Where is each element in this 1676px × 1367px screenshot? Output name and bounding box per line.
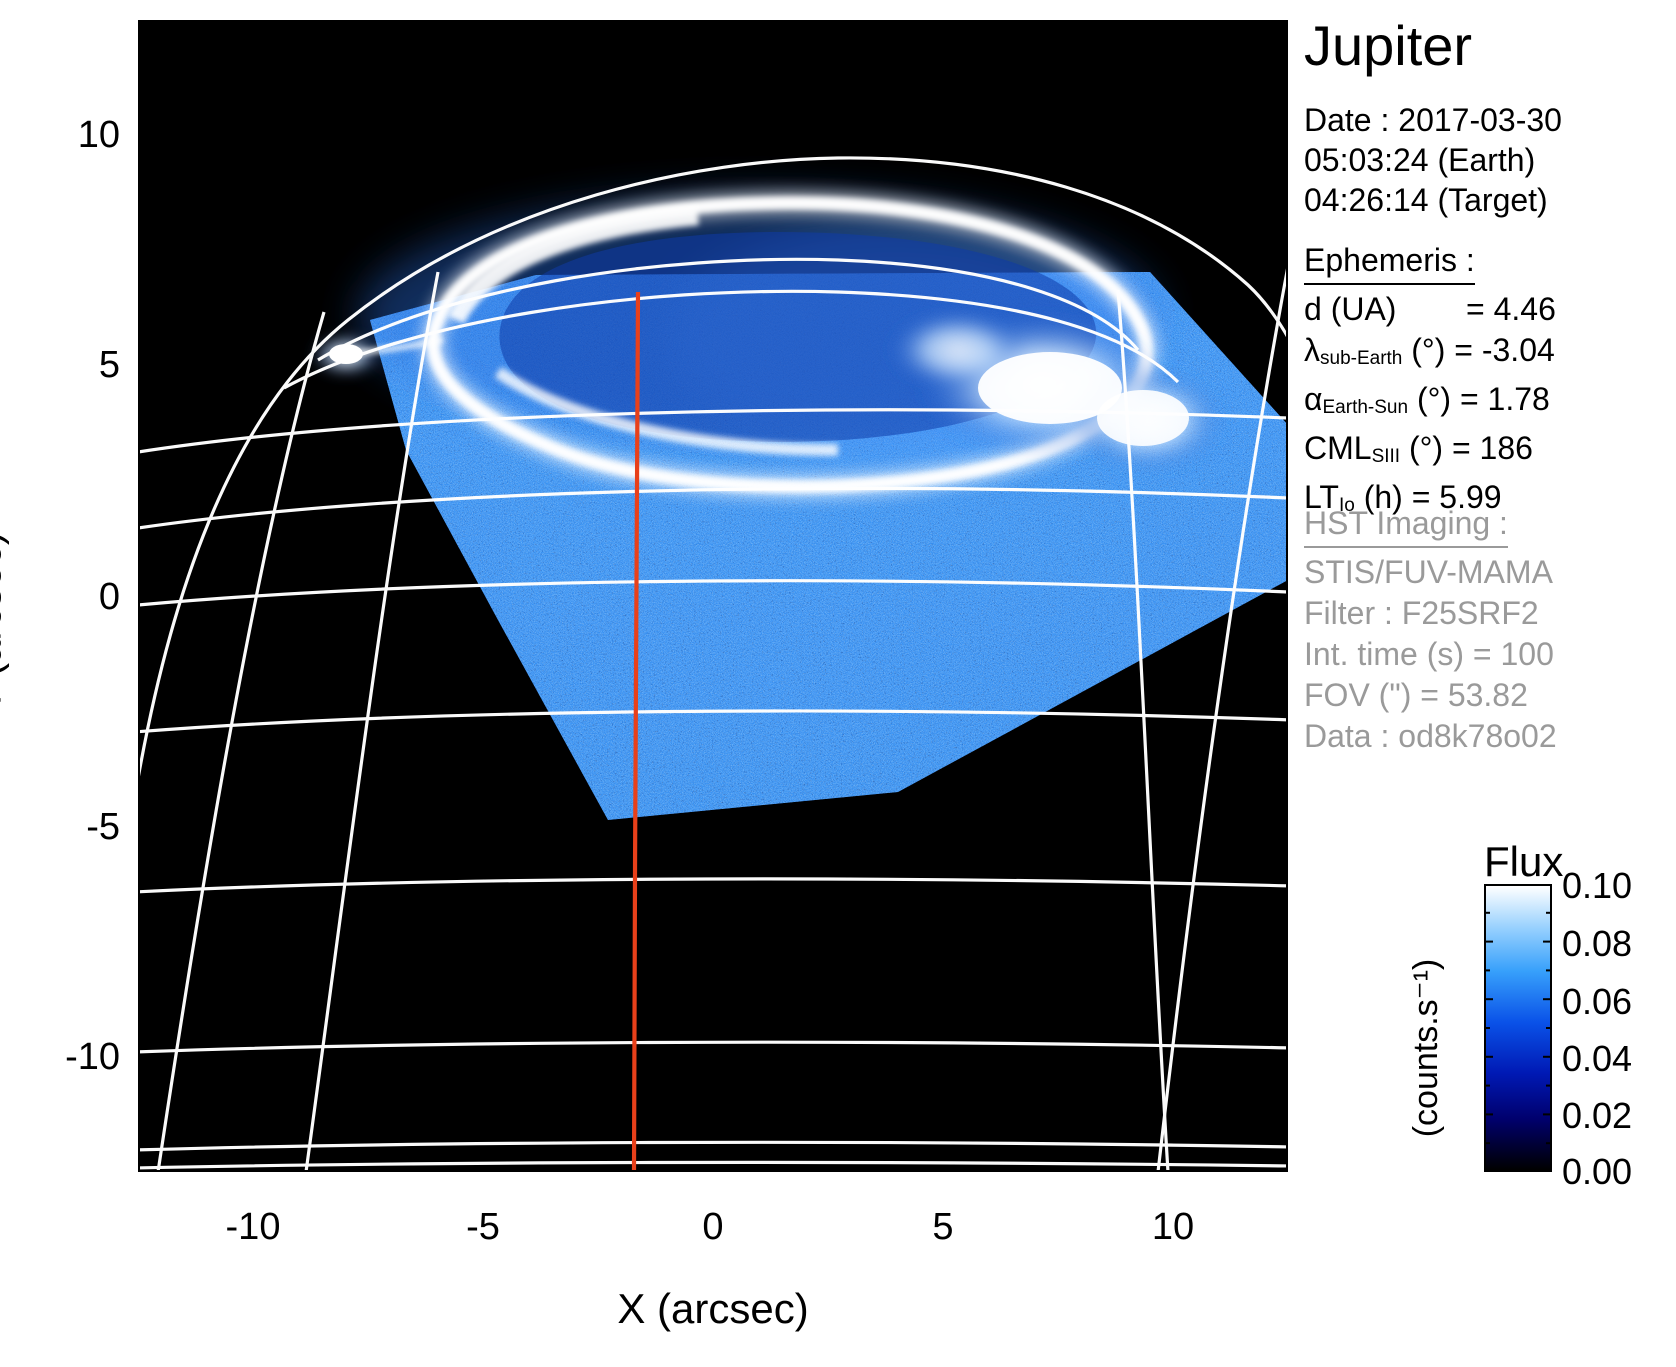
ephemeris-key: λ: [1304, 332, 1320, 368]
hst-filter: Filter : F25SRF2: [1304, 593, 1557, 634]
hst-imaging-header: HST Imaging :: [1304, 503, 1508, 548]
hst-imaging-block: HST Imaging : STIS/FUV-MAMA Filter : F25…: [1304, 503, 1557, 757]
hst-fov: FOV (") = 53.82: [1304, 675, 1557, 716]
ephemeris-key: d (UA): [1304, 289, 1466, 330]
flux-colorbar[interactable]: [1484, 884, 1552, 1172]
plot-region: [0, 0, 1300, 1367]
ephemeris-key: α: [1304, 381, 1323, 417]
aurora-image-svg: [138, 20, 1288, 1172]
hst-integration-time: Int. time (s) = 100: [1304, 634, 1557, 675]
colorbar-tick-label: 0.04: [1562, 1041, 1632, 1077]
ephemeris-row-phase-angle: αEarth-Sun (°) = 1.78: [1304, 379, 1556, 428]
colorbar-tick-label: 0.08: [1562, 926, 1632, 962]
ephemeris-subscript: SIII: [1372, 446, 1401, 467]
ephemeris-row-cml: CMLSIII (°) = 186: [1304, 428, 1556, 477]
date-block: Date : 2017-03-30 05:03:24 (Earth) 04:26…: [1304, 100, 1562, 220]
ephemeris-unit: (°): [1417, 381, 1451, 417]
hst-data-id: Data : od8k78o02: [1304, 716, 1557, 757]
ephemeris-unit: (°): [1409, 430, 1443, 466]
ephemeris-block: Ephemeris : d (UA)= 4.46 λsub-Earth (°) …: [1304, 240, 1556, 526]
ephemeris-row-distance: d (UA)= 4.46: [1304, 289, 1556, 330]
target-time-line: 04:26:14 (Target): [1304, 180, 1562, 220]
ephemeris-row-sub-earth-lat: λsub-Earth (°) = -3.04: [1304, 330, 1556, 379]
aurora-image-canvas[interactable]: [138, 20, 1288, 1172]
ephemeris-key: CML: [1304, 430, 1372, 466]
ephemeris-subscript: Earth-Sun: [1323, 397, 1409, 418]
ephemeris-value: = 4.46: [1466, 291, 1556, 327]
ephemeris-value: = 1.78: [1460, 381, 1550, 417]
page-title: Jupiter: [1304, 16, 1472, 76]
ephemeris-header: Ephemeris :: [1304, 240, 1475, 285]
info-panel: Jupiter Date : 2017-03-30 05:03:24 (Eart…: [1298, 0, 1676, 1367]
ephemeris-subscript: sub-Earth: [1320, 348, 1402, 369]
earth-time-line: 05:03:24 (Earth): [1304, 140, 1562, 180]
colorbar-unit-label: (counts.s⁻¹): [1406, 959, 1446, 1138]
colorbar-tick-label: 0.02: [1562, 1098, 1632, 1134]
colorbar-tick-label: 0.10: [1562, 868, 1632, 904]
colorbar-tick-label: 0.06: [1562, 984, 1632, 1020]
ephemeris-unit: (°): [1411, 332, 1445, 368]
ephemeris-value: = 186: [1452, 430, 1533, 466]
colorbar-title: Flux: [1484, 838, 1563, 886]
date-line: Date : 2017-03-30: [1304, 100, 1562, 140]
hst-instrument: STIS/FUV-MAMA: [1304, 552, 1557, 593]
colorbar-tick-label: 0.00: [1562, 1154, 1632, 1190]
ephemeris-value: = -3.04: [1454, 332, 1555, 368]
